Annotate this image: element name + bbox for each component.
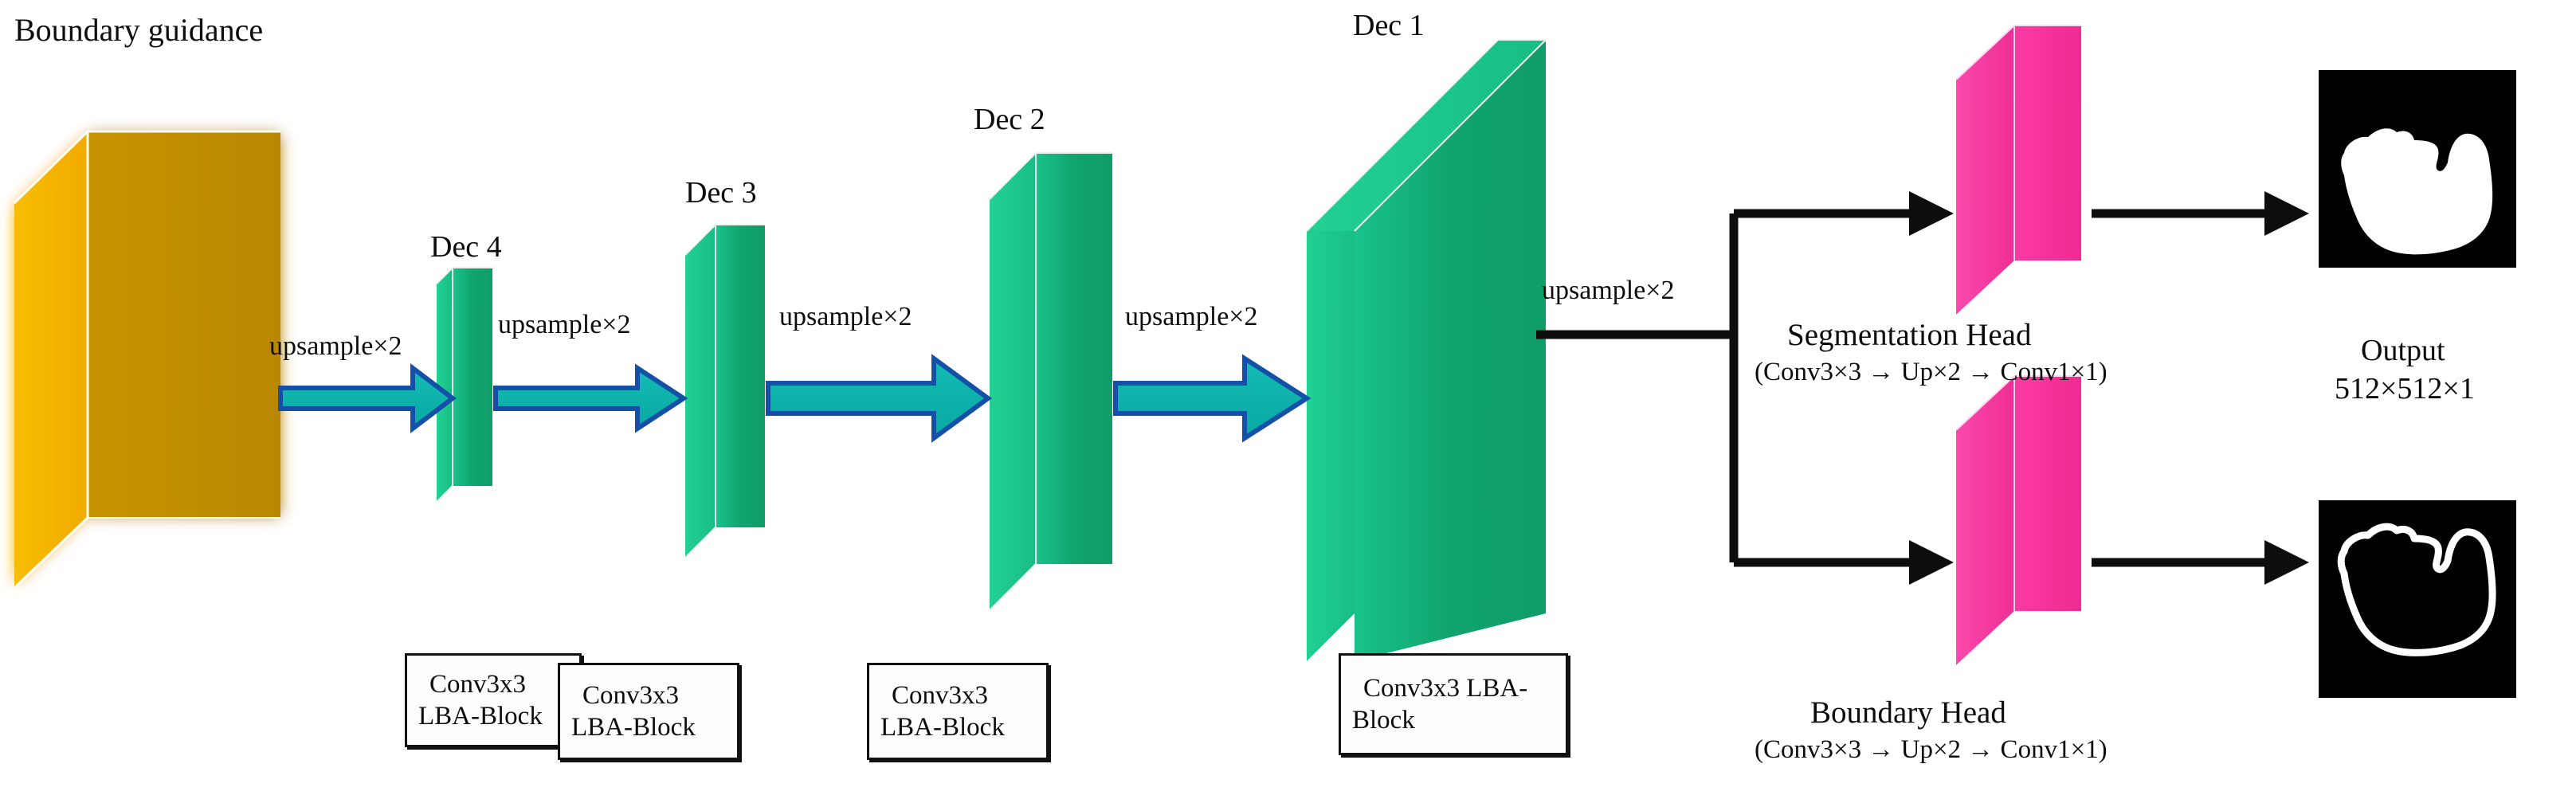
dec-4-label: Dec 4 <box>430 229 502 265</box>
segmentation-head-block <box>1956 25 2081 315</box>
conv-box-dec4-line1: Conv3x3 <box>418 668 543 700</box>
conv-box-dec1-line2: Block <box>1352 704 1539 736</box>
upsample-arrow-4 <box>1115 358 1307 438</box>
dec-3-label: Dec 3 <box>685 175 757 211</box>
conv-box-dec1-line1: Conv3x3 LBA- <box>1352 672 1539 704</box>
conv-box-dec2-line2: LBA-Block <box>880 711 1005 743</box>
segmentation-head-title: Segmentation Head <box>1787 317 2032 354</box>
segmentation-head-detail: (Conv3×3 → Up×2 → Conv1×1) <box>1755 357 2107 388</box>
dec-1-label: Dec 1 <box>1353 8 1425 44</box>
head-branch-connector <box>1536 213 1912 562</box>
diagram-vector-layer <box>0 0 2576 803</box>
segmentation-branch-arrowhead <box>1909 191 1954 236</box>
upsample-arrow-3 <box>768 358 988 438</box>
boundary-head-detail: (Conv3×3 → Up×2 → Conv1×1) <box>1755 734 2107 766</box>
boundary-branch-arrowhead <box>1909 540 1954 585</box>
boundary-head-title: Boundary Head <box>1810 695 2006 731</box>
conv-box-dec4: Conv3x3 LBA-Block <box>405 653 582 747</box>
upsample-arrow-2 <box>496 368 684 429</box>
upsample-label-connector: upsample×2 <box>1542 275 1674 307</box>
dec-3-block <box>685 225 765 558</box>
dec-4-block <box>437 268 492 502</box>
conv-box-dec2-line1: Conv3x3 <box>880 680 1005 711</box>
upsample-arrow-1 <box>280 368 453 429</box>
segmentation-output-arrow <box>2092 191 2309 236</box>
boundary-output-arrow <box>2092 540 2309 585</box>
output-size-label: 512×512×1 <box>2335 371 2475 407</box>
upsample-label-4: upsample×2 <box>1125 301 1257 333</box>
dec-2-label: Dec 2 <box>974 102 1045 138</box>
conv-box-dec4-line2: LBA-Block <box>418 700 543 732</box>
upsample-label-2: upsample×2 <box>498 309 630 341</box>
conv-box-dec1: Conv3x3 LBA- Block <box>1339 653 1568 755</box>
dec-1-block <box>1307 40 1546 661</box>
upsample-label-1: upsample×2 <box>269 331 402 362</box>
dec-2-block <box>990 153 1112 610</box>
conv-box-dec3-line1: Conv3x3 <box>571 680 696 711</box>
output-label: Output <box>2361 333 2445 369</box>
upsample-label-3: upsample×2 <box>779 301 912 333</box>
conv-box-dec3-line2: LBA-Block <box>571 711 696 743</box>
conv-box-dec3: Conv3x3 LBA-Block <box>558 663 739 760</box>
output-boundary-contour <box>2319 500 2516 698</box>
boundary-head-block <box>1956 376 2081 665</box>
output-segmentation-mask <box>2319 70 2516 268</box>
conv-box-dec2: Conv3x3 LBA-Block <box>867 663 1049 760</box>
boundary-guidance-block <box>14 131 280 588</box>
architecture-diagram: Boundary guidance <box>0 0 2576 803</box>
